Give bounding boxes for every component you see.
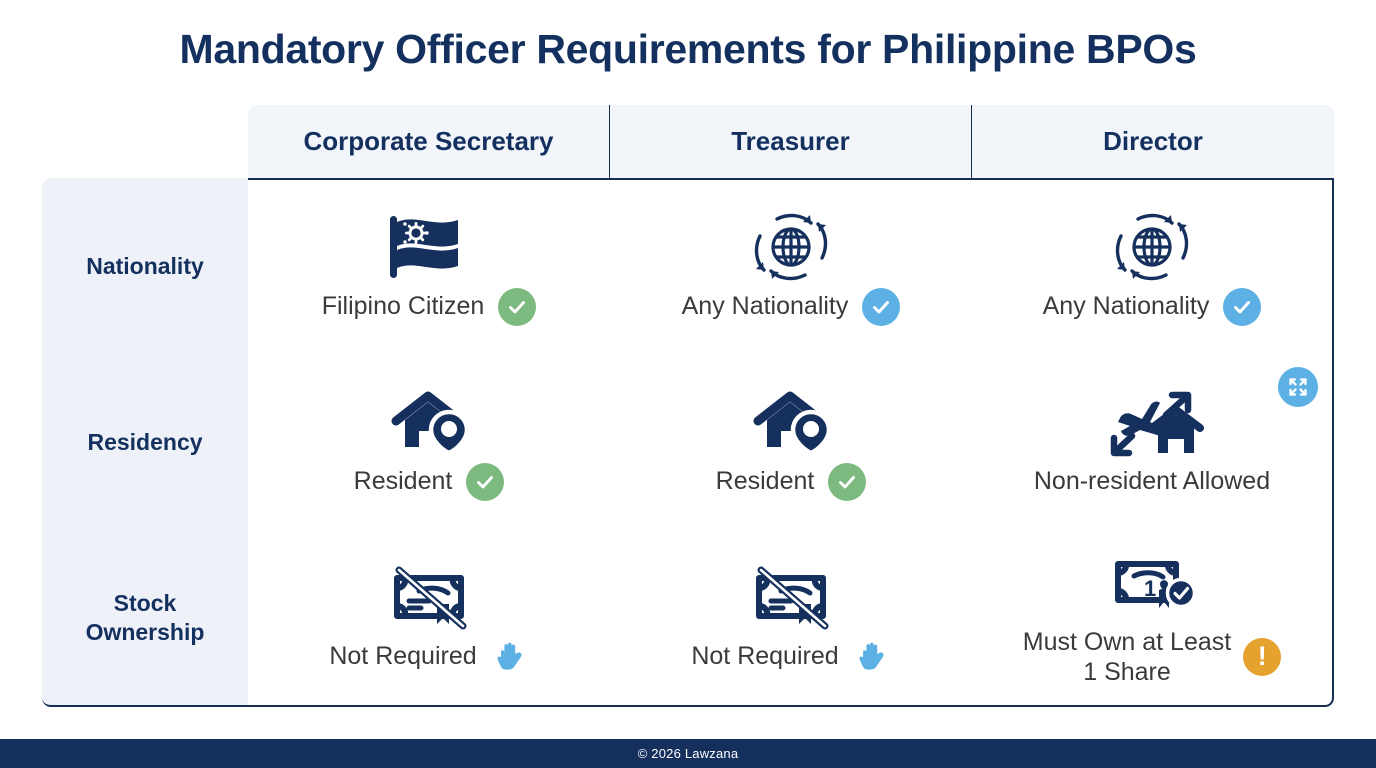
- check-badge-green: [498, 288, 536, 326]
- raised-hand-icon: [853, 638, 891, 676]
- cell-label-line-1: Must Own at Least: [1023, 628, 1231, 656]
- row-label-line-2: Ownership: [86, 619, 205, 645]
- cell-label-line-2: 1 Share: [1083, 658, 1171, 686]
- check-badge-green: [466, 463, 504, 501]
- cell-nationality-corporate-secretary: Filipino Citizen: [248, 178, 610, 355]
- corner-cell: [42, 105, 248, 178]
- cell-residency-director: Non-resident Allowed: [972, 355, 1334, 530]
- table-row-stock-ownership: Stock Ownership: [42, 530, 1334, 707]
- cell-label: Non-resident Allowed: [1034, 466, 1270, 497]
- requirements-matrix: Corporate Secretary Treasurer Director N…: [42, 105, 1334, 707]
- certificate-crossed-out-icon: [745, 560, 837, 634]
- certificate-one-share-check-icon: 1: [1102, 549, 1202, 623]
- page-title: Mandatory Officer Requirements for Phili…: [0, 0, 1376, 72]
- check-badge-green: [828, 463, 866, 501]
- cell-residency-corporate-secretary: Resident: [248, 355, 610, 530]
- house-pin-icon: [748, 385, 834, 459]
- exclamation-mark: !: [1258, 643, 1267, 670]
- globe-arrows-icon: [1112, 210, 1192, 284]
- plane-house-icon: [1100, 388, 1204, 462]
- cell-nationality-treasurer: Any Nationality: [610, 178, 972, 355]
- cell-nationality-director: Any Nationality: [972, 178, 1334, 355]
- row-label-line-1: Stock: [114, 590, 177, 616]
- cell-label: Not Required: [691, 641, 838, 672]
- footer-bar: © 2026 Lawzana: [0, 739, 1376, 768]
- cell-label: Resident: [354, 466, 453, 497]
- cell-label: Not Required: [329, 641, 476, 672]
- warning-badge-orange: !: [1243, 638, 1281, 676]
- check-badge-blue: [1223, 288, 1261, 326]
- cell-label: Filipino Citizen: [322, 291, 485, 322]
- table-row-residency: Residency Resident: [42, 355, 1334, 530]
- column-header-director: Director: [972, 105, 1334, 178]
- table-row-nationality: Nationality: [42, 178, 1334, 355]
- philippine-flag-icon: [386, 210, 472, 284]
- column-header-treasurer: Treasurer: [610, 105, 972, 178]
- cell-label: Any Nationality: [682, 291, 849, 322]
- table-header-row: Corporate Secretary Treasurer Director: [42, 105, 1334, 178]
- row-label-stock-ownership: Stock Ownership: [42, 530, 248, 707]
- column-header-corporate-secretary: Corporate Secretary: [248, 105, 610, 178]
- raised-hand-icon: [491, 638, 529, 676]
- cell-label: Resident: [716, 466, 815, 497]
- row-label-nationality: Nationality: [42, 178, 248, 355]
- cell-stock-ownership-director: 1 Must Own at Least 1 Share: [972, 530, 1334, 707]
- cell-residency-treasurer: Resident: [610, 355, 972, 530]
- check-badge-blue: [862, 288, 900, 326]
- certificate-crossed-out-icon: [383, 560, 475, 634]
- house-pin-icon: [386, 385, 472, 459]
- cell-label: Must Own at Least 1 Share: [1023, 627, 1231, 687]
- row-label-residency: Residency: [42, 355, 248, 530]
- copyright-text: © 2026 Lawzana: [638, 746, 739, 761]
- globe-arrows-icon: [751, 210, 831, 284]
- cell-label: Any Nationality: [1043, 291, 1210, 322]
- cell-stock-ownership-corporate-secretary: Not Required: [248, 530, 610, 707]
- svg-text:1: 1: [1144, 576, 1156, 601]
- cell-stock-ownership-treasurer: Not Required: [610, 530, 972, 707]
